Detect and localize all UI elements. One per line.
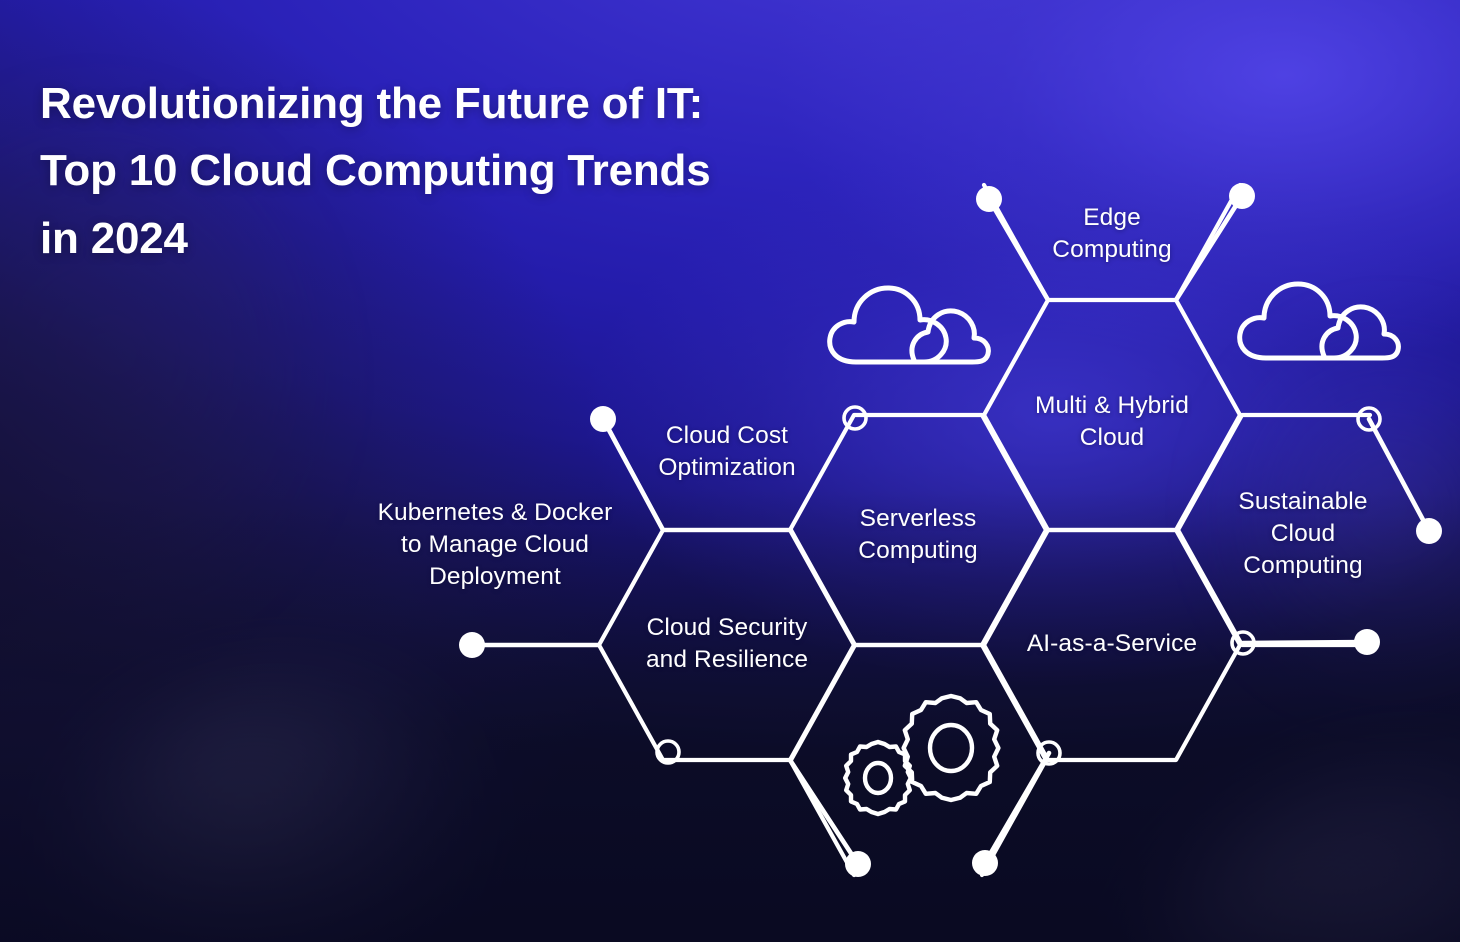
node-top-left[interactable] bbox=[976, 186, 1002, 212]
cloud-icon bbox=[830, 288, 989, 362]
hexagon-edge-computing[interactable] bbox=[984, 185, 1240, 300]
hexagon-network-diagram bbox=[0, 0, 1460, 942]
node-left-upper[interactable] bbox=[590, 406, 616, 432]
node-bottom-right[interactable] bbox=[972, 850, 998, 876]
node-hollow-cloud-cost[interactable] bbox=[844, 407, 866, 429]
connector-lines bbox=[472, 196, 1429, 864]
hexagon-serverless-computing[interactable] bbox=[790, 415, 1046, 645]
hexagon-sustainable-cloud-computing[interactable] bbox=[1178, 415, 1370, 645]
hexagon-cloud-security-and-resilience[interactable] bbox=[599, 530, 855, 760]
connector-ai-right bbox=[1243, 642, 1367, 643]
connector-edge-left bbox=[989, 199, 1048, 300]
cloud-icon bbox=[1240, 284, 1399, 358]
gears-icon bbox=[845, 696, 998, 814]
connector-cco-upper-left bbox=[603, 419, 663, 530]
node-right-lower[interactable] bbox=[1354, 629, 1380, 655]
hexagon-multi-hybrid-cloud[interactable] bbox=[984, 300, 1240, 530]
connector-edge-right bbox=[1176, 196, 1242, 300]
node-left-mid[interactable] bbox=[459, 632, 485, 658]
infographic-canvas: Revolutionizing the Future of IT: Top 10… bbox=[0, 0, 1460, 942]
hexagon-gears[interactable] bbox=[790, 645, 1046, 875]
node-right-upper[interactable] bbox=[1416, 518, 1442, 544]
hexagon-ai-as-a-service[interactable] bbox=[984, 530, 1240, 760]
connector-sustainable-top bbox=[1369, 419, 1429, 531]
node-top-right[interactable] bbox=[1229, 183, 1255, 209]
node-bottom-left[interactable] bbox=[845, 851, 871, 877]
